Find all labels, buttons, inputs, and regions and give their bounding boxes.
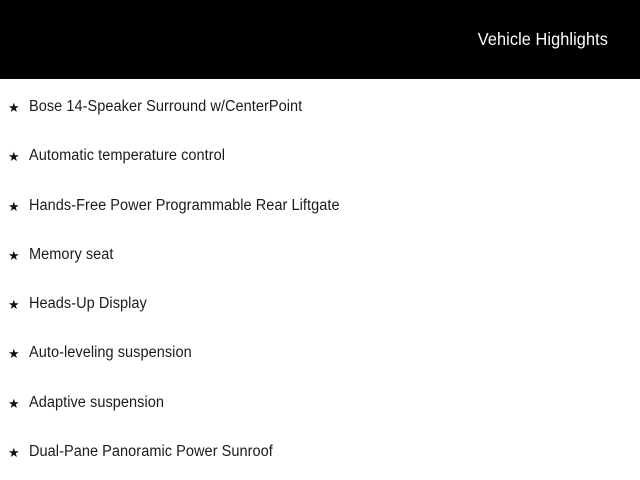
star-icon: ★	[8, 347, 29, 360]
list-item: ★ Automatic temperature control	[0, 144, 640, 168]
list-item-label: Adaptive suspension	[29, 395, 164, 410]
list-item-label: Heads-Up Display	[29, 296, 147, 311]
list-item-label: Dual-Pane Panoramic Power Sunroof	[29, 444, 273, 459]
list-item-label: Memory seat	[29, 247, 114, 262]
star-icon: ★	[8, 298, 29, 311]
list-item: ★ Heads-Up Display	[0, 292, 640, 316]
list-item: ★ Auto-leveling suspension	[0, 341, 640, 365]
list-item: ★ Hands-Free Power Programmable Rear Lif…	[0, 194, 640, 218]
star-icon: ★	[8, 200, 29, 213]
star-icon: ★	[8, 101, 29, 114]
vehicle-highlights-list: ★ Bose 14-Speaker Surround w/CenterPoint…	[0, 79, 640, 480]
star-icon: ★	[8, 397, 29, 410]
list-item-label: Bose 14-Speaker Surround w/CenterPoint	[29, 99, 302, 114]
star-icon: ★	[8, 446, 29, 459]
vehicle-highlights-page: Vehicle Highlights ★ Bose 14-Speaker Sur…	[0, 0, 640, 480]
list-item-label: Auto-leveling suspension	[29, 345, 192, 360]
star-icon: ★	[8, 249, 29, 262]
list-item: ★ Adaptive suspension	[0, 391, 640, 415]
page-title: Vehicle Highlights	[478, 31, 608, 49]
list-item-label: Automatic temperature control	[29, 148, 225, 163]
page-header: Vehicle Highlights	[0, 0, 640, 79]
list-item: ★ Memory seat	[0, 243, 640, 267]
list-item: ★ Bose 14-Speaker Surround w/CenterPoint	[0, 95, 640, 119]
list-item: ★ Dual-Pane Panoramic Power Sunroof	[0, 440, 640, 464]
list-item-label: Hands-Free Power Programmable Rear Liftg…	[29, 198, 340, 213]
star-icon: ★	[8, 150, 29, 163]
